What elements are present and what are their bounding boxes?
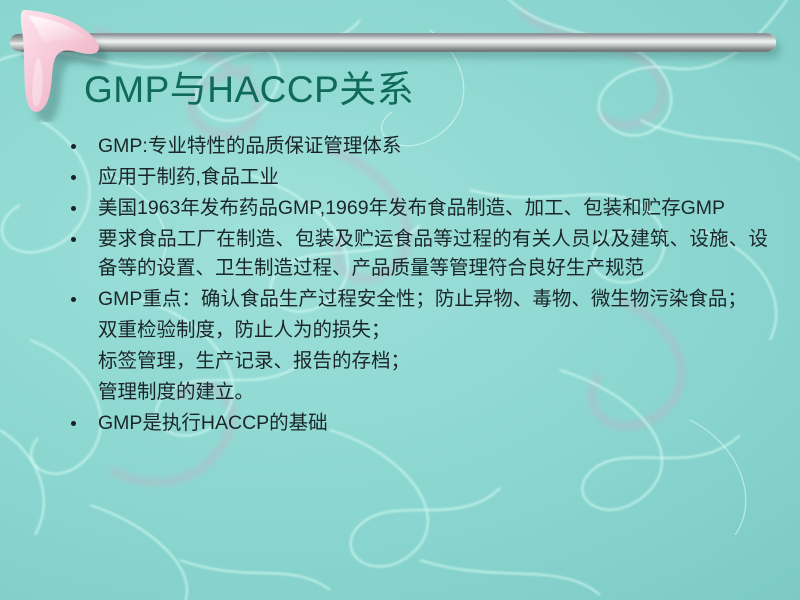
bullet-dot-icon bbox=[71, 175, 76, 180]
list-item-text: GMP:专业特性的品质保证管理体系 bbox=[98, 135, 401, 157]
list-item-text: GMP是执行HACCP的基础 bbox=[98, 412, 328, 434]
list-item-text: GMP重点：确认食品生产过程安全性；防止异物、毒物、微生物污染食品； bbox=[98, 288, 747, 310]
plain-line: 双重检验制度，防止人为的损失； bbox=[62, 316, 768, 345]
bullet-dot-icon bbox=[71, 421, 76, 426]
bullet-dot-icon bbox=[71, 206, 76, 211]
bullet-dot-icon bbox=[71, 237, 76, 242]
list-item: GMP重点：确认食品生产过程安全性；防止异物、毒物、微生物污染食品； bbox=[62, 285, 768, 314]
list-item-text: 要求食品工厂在制造、包装及贮运食品等过程的有关人员以及建筑、设施、设备等的设置、… bbox=[98, 228, 768, 279]
slide-body: GMP:专业特性的品质保证管理体系 应用于制药,食品工业 美国1963年发布药品… bbox=[62, 132, 768, 440]
presentation-slide: GMP与HACCP关系 GMP:专业特性的品质保证管理体系 应用于制药,食品工业… bbox=[0, 0, 800, 600]
list-item: GMP是执行HACCP的基础 bbox=[62, 409, 768, 438]
plain-line: 标签管理，生产记录、报告的存档； bbox=[62, 347, 768, 376]
bullet-list: GMP:专业特性的品质保证管理体系 应用于制药,食品工业 美国1963年发布药品… bbox=[62, 132, 768, 314]
bullet-dot-icon bbox=[71, 297, 76, 302]
page-title: GMP与HACCP关系 bbox=[84, 68, 744, 112]
list-item: 美国1963年发布药品GMP,1969年发布食品制造、加工、包装和贮存GMP bbox=[62, 194, 768, 223]
list-item-text: 美国1963年发布药品GMP,1969年发布食品制造、加工、包装和贮存GMP bbox=[98, 197, 725, 219]
list-item-text: 应用于制药,食品工业 bbox=[98, 166, 279, 188]
list-item: GMP:专业特性的品质保证管理体系 bbox=[62, 132, 768, 161]
bullet-list-final: GMP是执行HACCP的基础 bbox=[62, 409, 768, 438]
list-item: 应用于制药,食品工业 bbox=[62, 163, 768, 192]
list-item: 要求食品工厂在制造、包装及贮运食品等过程的有关人员以及建筑、设施、设备等的设置、… bbox=[62, 225, 768, 283]
plain-line: 管理制度的建立。 bbox=[62, 378, 768, 407]
bullet-dot-icon bbox=[71, 144, 76, 149]
